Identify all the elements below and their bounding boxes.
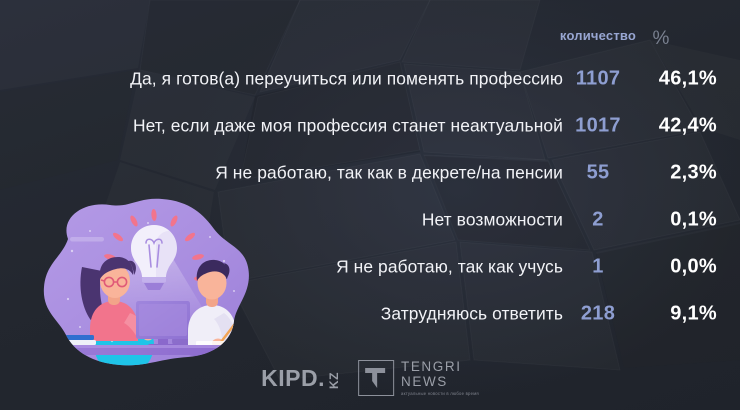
row-count: 1107 bbox=[542, 67, 654, 90]
row-percent: 0,0% bbox=[670, 255, 717, 278]
row-label: Я не работаю, так как учусь bbox=[336, 256, 563, 277]
header-percent: % bbox=[600, 28, 722, 50]
table-row: Я не работаю, так как в декрете/на пенси… bbox=[0, 149, 740, 196]
row-label: Да, я готов(а) переучиться или поменять … bbox=[130, 68, 563, 89]
row-count: 218 bbox=[542, 302, 654, 325]
tengrinews-logo[interactable]: TENGRI NEWS актуальные новости в любое в… bbox=[358, 360, 479, 397]
tengrinews-line2: NEWS bbox=[401, 375, 479, 389]
table-row: Да, я готов(а) переучиться или поменять … bbox=[0, 55, 740, 102]
row-count: 1 bbox=[542, 255, 654, 278]
row-percent: 0,1% bbox=[670, 208, 717, 231]
kipd-logo[interactable]: KIPD. KZ bbox=[261, 367, 340, 390]
row-label: Нет, если даже моя профессия станет неак… bbox=[133, 115, 563, 136]
column-headers: количество % bbox=[0, 28, 740, 50]
two-people-desk-lightbulb-illustration bbox=[38, 195, 270, 375]
table-row: Нет, если даже моя профессия станет неак… bbox=[0, 102, 740, 149]
row-label: Затрудняюсь ответить bbox=[381, 303, 563, 324]
tengrinews-wordmark: TENGRI NEWS актуальные новости в любое в… bbox=[401, 360, 479, 397]
row-label: Я не работаю, так как в декрете/на пенси… bbox=[215, 162, 563, 183]
row-count: 55 bbox=[542, 161, 654, 184]
row-count: 1017 bbox=[542, 114, 654, 137]
tengrinews-tagline: актуальные новости в любое время bbox=[401, 391, 479, 397]
row-percent: 42,4% bbox=[659, 114, 717, 137]
tengrinews-line1: TENGRI bbox=[401, 360, 479, 374]
row-percent: 46,1% bbox=[659, 67, 717, 90]
kipd-logo-kz: KZ bbox=[328, 372, 340, 389]
row-percent: 9,1% bbox=[670, 302, 717, 325]
footer-logos: KIPD. KZ TENGRI NEWS актуальные новости … bbox=[0, 360, 740, 402]
row-percent: 2,3% bbox=[670, 161, 717, 184]
row-count: 2 bbox=[542, 208, 654, 231]
kipd-logo-text: KIPD. bbox=[261, 367, 325, 390]
tengrinews-mark-icon bbox=[358, 360, 394, 396]
poll-result-poster: количество % Да, я готов(а) переучиться … bbox=[0, 0, 740, 410]
